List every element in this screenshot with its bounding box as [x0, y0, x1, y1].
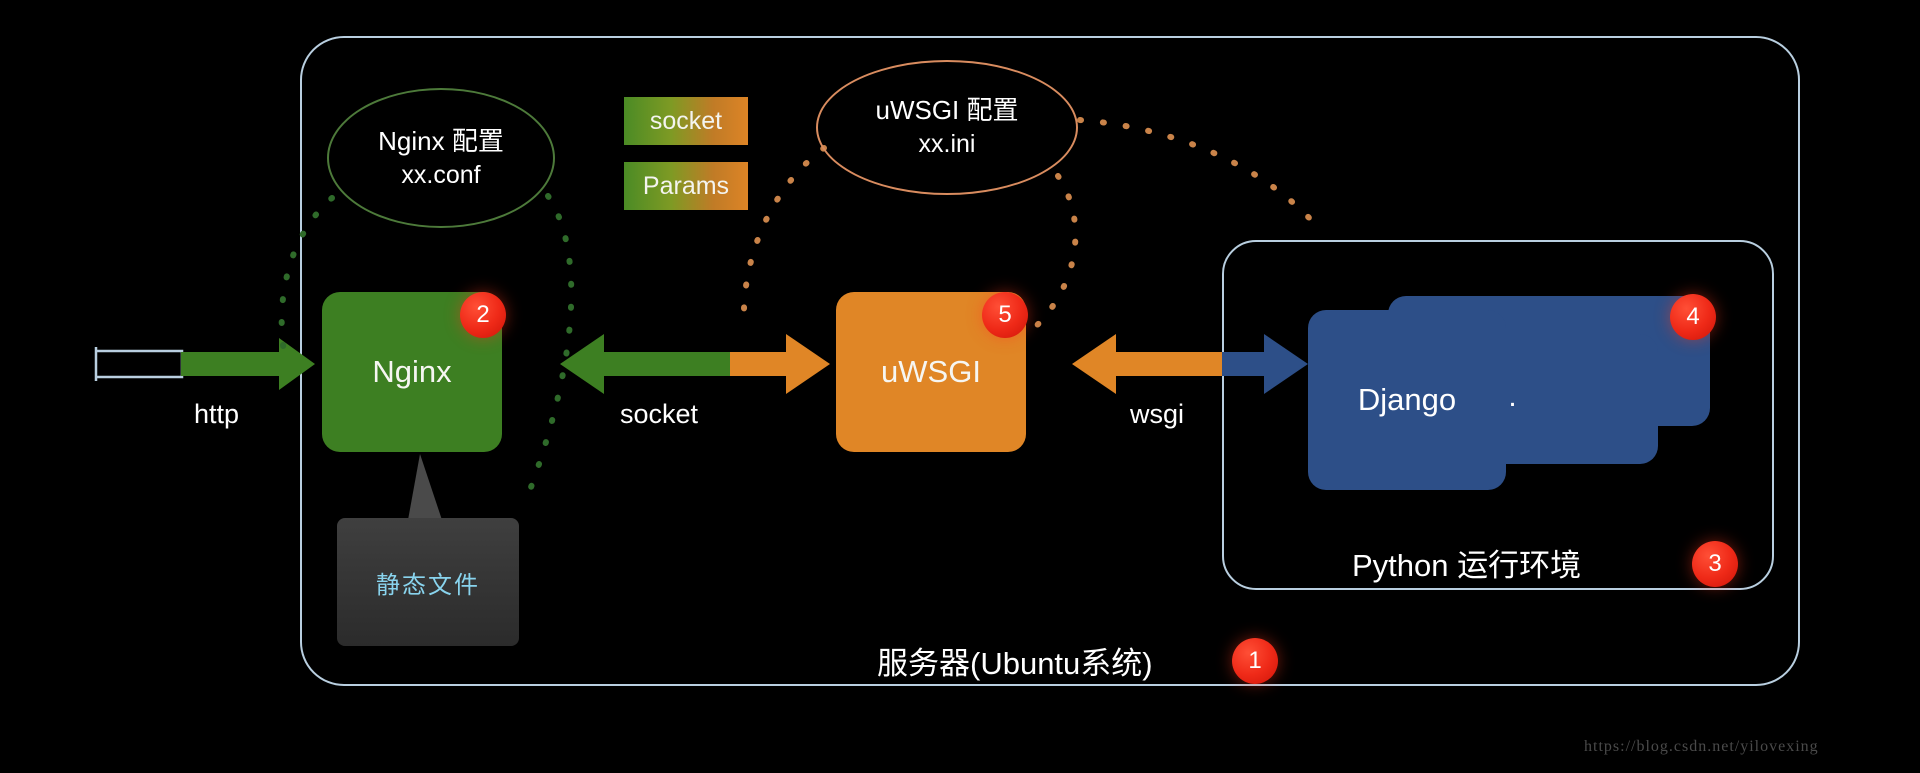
wsgi-arrow-label: wsgi: [1130, 399, 1184, 430]
client-bracket-icon: [96, 347, 182, 381]
diagram-canvas: Nginx 配置 xx.conf uWSGI 配置 xx.ini socket …: [0, 0, 1920, 773]
watermark: https://blog.csdn.net/yilovexing: [1584, 738, 1819, 756]
socket-arrow-label: socket: [620, 399, 698, 430]
static-files-box: 静态文件: [337, 518, 519, 646]
server-label: 服务器(Ubuntu系统): [877, 638, 1153, 683]
django-block: Django: [1308, 310, 1506, 490]
nginx-config-line1: Nginx 配置: [378, 124, 504, 159]
badge-server: 1: [1232, 638, 1278, 684]
static-files-pointer-icon: [408, 454, 442, 520]
badge-uwsgi: 5: [982, 292, 1028, 338]
http-arrow: [181, 338, 315, 390]
nginx-config-line2: xx.conf: [401, 159, 480, 193]
nginx-config-bubble: Nginx 配置 xx.conf: [327, 88, 555, 228]
uwsgi-config-line1: uWSGI 配置: [875, 93, 1018, 128]
badge-mezzanine: 4: [1670, 294, 1716, 340]
socket-chip: socket: [624, 97, 748, 145]
uwsgi-config-bubble: uWSGI 配置 xx.ini: [816, 60, 1078, 195]
badge-nginx: 2: [460, 292, 506, 338]
http-arrow-label: http: [194, 399, 239, 430]
uwsgi-config-line2: xx.ini: [919, 128, 976, 162]
badge-python-env: 3: [1692, 541, 1738, 587]
params-chip: Params: [624, 162, 748, 210]
python-env-label: Python 运行环境: [1352, 540, 1581, 585]
